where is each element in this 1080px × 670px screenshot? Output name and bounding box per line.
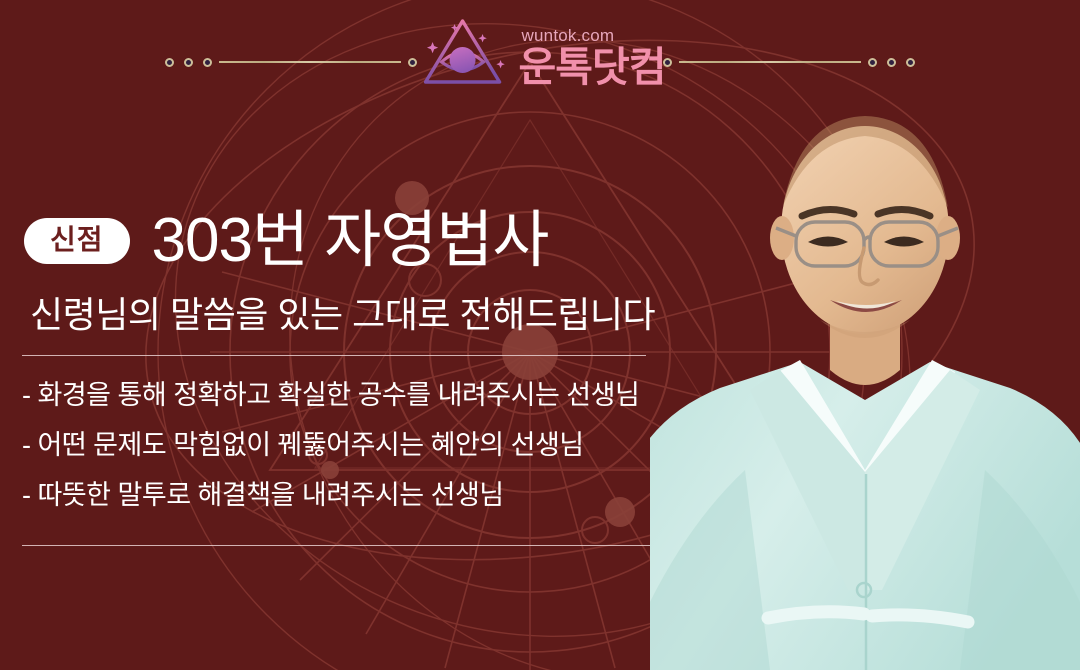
divider-bottom — [22, 545, 650, 546]
deco-dot-icon — [887, 58, 896, 67]
promo-banner: wuntok.com 운톡닷컴 — [0, 0, 1080, 670]
fortune-teller-photo — [650, 70, 1080, 670]
page-title: 303번 자영법사 — [152, 210, 549, 272]
deco-dot-icon — [868, 58, 877, 67]
list-item: - 어떤 문제도 막힘없이 꿰뚫어주시는 혜안의 선생님 — [22, 432, 682, 459]
list-item: - 따뜻한 말투로 해결책을 내려주시는 선생님 — [22, 482, 682, 509]
status-badge: 신점 — [24, 218, 130, 264]
deco-line — [679, 61, 861, 63]
logo-wordmark: wuntok.com 운톡닷컴 — [519, 27, 666, 90]
feature-list: - 화경을 통해 정확하고 확실한 공수를 내려주시는 선생님 - 어떤 문제도… — [22, 382, 682, 532]
site-logo[interactable]: wuntok.com 운톡닷컴 — [415, 12, 666, 90]
divider-top — [22, 355, 646, 356]
deco-dot-icon — [906, 58, 915, 67]
list-item: - 화경을 통해 정확하고 확실한 공수를 내려주시는 선생님 — [22, 382, 682, 409]
logo-domain-text: wuntok.com — [522, 27, 615, 44]
hero-content: 신점 303번 자영법사 신령님의 말씀을 있는 그대로 전해드립니다 - 화경… — [0, 0, 700, 670]
eye-in-triangle-icon — [415, 12, 511, 90]
subtitle: 신령님의 말씀을 있는 그대로 전해드립니다 — [30, 286, 655, 338]
logo-korean-text: 운톡닷컴 — [519, 47, 666, 88]
